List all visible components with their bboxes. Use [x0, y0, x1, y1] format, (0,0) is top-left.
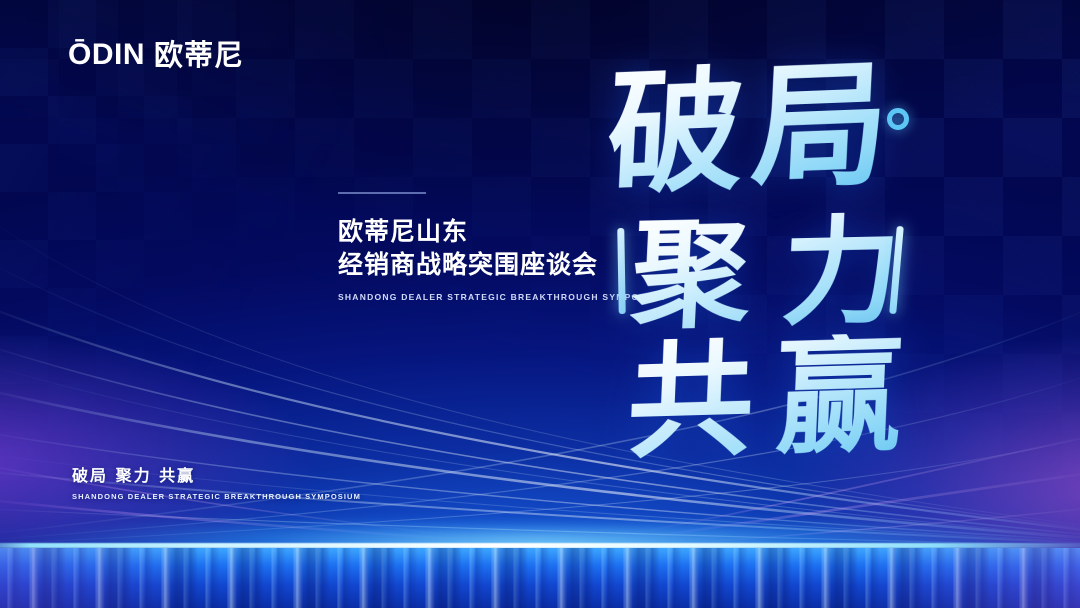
logo-chinese-wordmark: 欧蒂尼	[154, 41, 244, 70]
hero-calligraphy-line-1: 破局	[604, 57, 899, 204]
odin-logo: ŌDIN 欧蒂尼	[68, 40, 244, 70]
strapline-english: SHANDONG DEALER STRATEGIC BREAKTHROUGH S…	[72, 492, 361, 501]
hero-calligraphy-block: 破局 聚力 共赢	[560, 36, 1040, 466]
degree-ring-icon	[887, 108, 909, 130]
strapline-chinese: 破局 聚力 共赢	[72, 468, 361, 484]
ground-color-fade	[0, 548, 1080, 608]
title-divider-rule	[338, 192, 426, 194]
hero-calligraphy-line-3: 共赢	[625, 332, 927, 466]
accent-bar-left-icon	[617, 228, 625, 314]
event-backdrop-canvas: ŌDIN 欧蒂尼 欧蒂尼山东 经销商战略突围座谈会 SHANDONG DEALE…	[0, 0, 1080, 608]
bottom-strapline: 破局 聚力 共赢 SHANDONG DEALER STRATEGIC BREAK…	[72, 468, 361, 501]
logo-latin-wordmark: ŌDIN	[68, 40, 145, 70]
hero-calligraphy-line-2: 聚力	[629, 211, 935, 335]
